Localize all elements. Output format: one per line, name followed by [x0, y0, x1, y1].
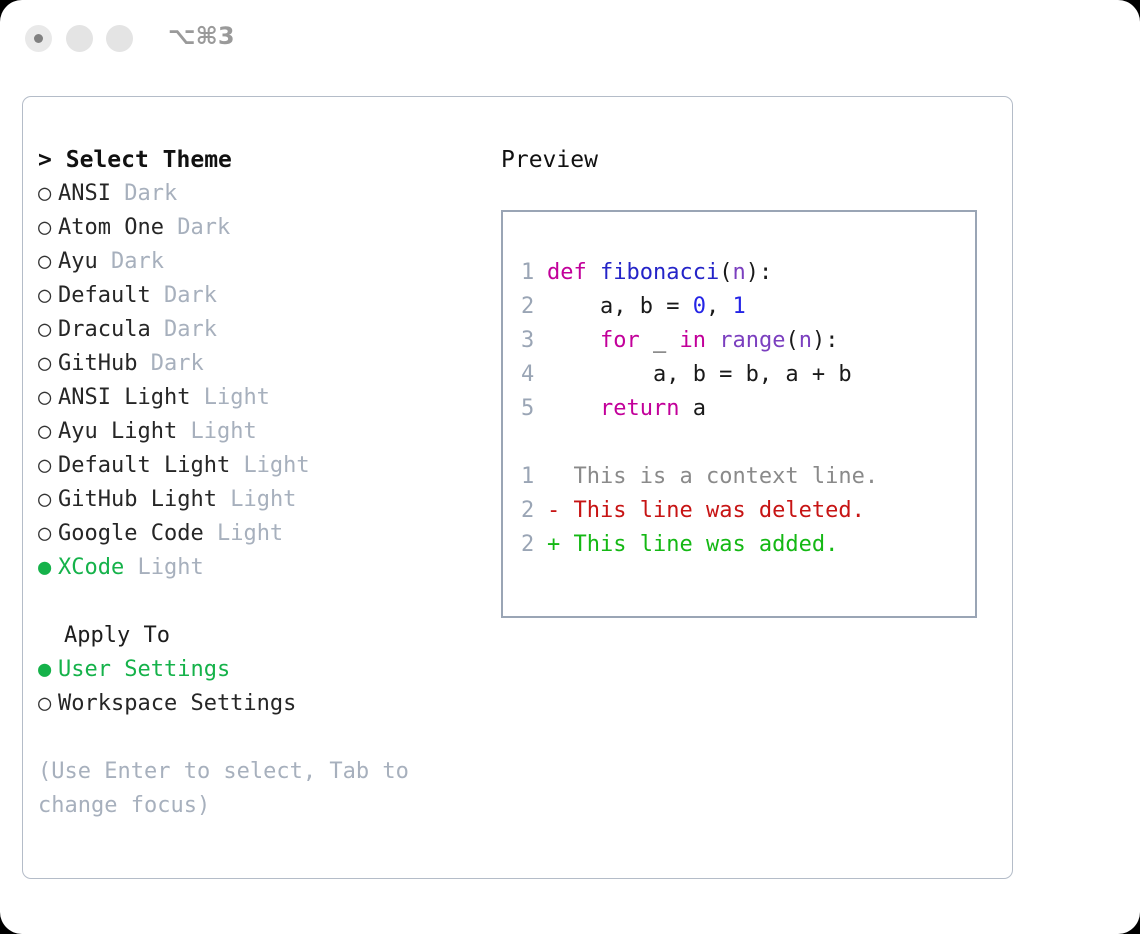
- apply-to-option-label: User Settings: [58, 657, 230, 682]
- code-token: 0: [693, 294, 706, 319]
- radio-unselected-icon: ○: [38, 687, 58, 721]
- code-sample: 1def fibonacci(n):2 a, b = 0, 13 for _ i…: [521, 256, 969, 426]
- theme-variant-label: Light: [137, 555, 203, 580]
- line-number: 2: [521, 290, 547, 324]
- preview-heading: Preview: [501, 143, 1001, 177]
- theme-variant-label: Light: [230, 487, 296, 512]
- titlebar-dot-2[interactable]: [66, 25, 93, 52]
- radio-selected-icon: ●: [38, 551, 58, 585]
- code-token: [547, 328, 600, 353]
- apply-to-option-row[interactable]: ○Workspace Settings: [38, 687, 478, 721]
- list-spacer: [38, 585, 478, 619]
- diff-line: 2- This line was deleted.: [521, 494, 969, 528]
- line-number: 2: [521, 494, 547, 528]
- radio-unselected-icon: ○: [38, 517, 58, 551]
- radio-unselected-icon: ○: [38, 483, 58, 517]
- theme-name-label: Ayu: [58, 249, 98, 274]
- spacer: [177, 419, 190, 444]
- code-token: in: [679, 328, 706, 353]
- radio-unselected-icon: ○: [38, 381, 58, 415]
- radio-unselected-icon: ○: [38, 279, 58, 313]
- theme-variant-label: Light: [217, 521, 283, 546]
- theme-variant-label: Dark: [124, 181, 177, 206]
- code-token: fibonacci: [600, 260, 719, 285]
- preview-column: Preview 1def fibonacci(n):2 a, b = 0, 13…: [501, 143, 1001, 618]
- select-theme-heading-label: Select Theme: [66, 147, 232, 173]
- theme-option-row[interactable]: ○GitHub Dark: [38, 347, 478, 381]
- theme-option-row[interactable]: ○Default Light Light: [38, 449, 478, 483]
- line-number: 3: [521, 324, 547, 358]
- prompt-caret-icon: >: [38, 147, 52, 173]
- preview-box: 1def fibonacci(n):2 a, b = 0, 13 for _ i…: [501, 210, 977, 618]
- code-token: ):: [812, 328, 839, 353]
- theme-name-label: XCode: [58, 555, 124, 580]
- code-line: 2 a, b = 0, 1: [521, 290, 969, 324]
- code-line: 5 return a: [521, 392, 969, 426]
- code-token: (: [785, 328, 798, 353]
- line-number: 4: [521, 358, 547, 392]
- theme-option-row[interactable]: ○ANSI Light Light: [38, 381, 478, 415]
- code-token: n: [799, 328, 812, 353]
- code-line: 1def fibonacci(n):: [521, 256, 969, 290]
- line-number: 2: [521, 528, 547, 562]
- apply-to-option-row[interactable]: ●User Settings: [38, 653, 478, 687]
- spacer: [204, 521, 217, 546]
- radio-unselected-icon: ○: [38, 245, 58, 279]
- spacer: [98, 249, 111, 274]
- code-token: a, b =: [547, 294, 693, 319]
- apply-to-heading: Apply To: [38, 619, 478, 653]
- diff-line: 1 This is a context line.: [521, 460, 969, 494]
- record-dot-inner-icon: [34, 34, 43, 43]
- theme-name-label: GitHub: [58, 351, 137, 376]
- theme-name-label: ANSI: [58, 181, 111, 206]
- code-token: ,: [706, 294, 733, 319]
- theme-name-label: Default Light: [58, 453, 230, 478]
- radio-unselected-icon: ○: [38, 211, 58, 245]
- theme-name-label: Dracula: [58, 317, 151, 342]
- theme-name-label: GitHub Light: [58, 487, 217, 512]
- code-token: def: [547, 260, 587, 285]
- theme-variant-label: Dark: [164, 283, 217, 308]
- theme-option-row[interactable]: ○Atom One Dark: [38, 211, 478, 245]
- theme-option-row[interactable]: ○ANSI Dark: [38, 177, 478, 211]
- spacer: [124, 555, 137, 580]
- line-number: 5: [521, 392, 547, 426]
- theme-option-row[interactable]: ●XCode Light: [38, 551, 478, 585]
- code-line: 3 for _ in range(n):: [521, 324, 969, 358]
- spacer: [137, 351, 150, 376]
- diff-marker: -: [547, 498, 574, 523]
- diff-line: 2+ This line was added.: [521, 528, 969, 562]
- code-token: range: [719, 328, 785, 353]
- code-token: a: [679, 396, 706, 421]
- apply-to-option-label: Workspace Settings: [58, 691, 296, 716]
- theme-variant-label: Light: [243, 453, 309, 478]
- line-number: 1: [521, 460, 547, 494]
- theme-selector-column: > Select Theme ○ANSI Dark○Atom One Dark○…: [38, 143, 478, 823]
- radio-unselected-icon: ○: [38, 415, 58, 449]
- theme-variant-label: Light: [190, 419, 256, 444]
- code-token: [547, 396, 600, 421]
- spacer: [111, 181, 124, 206]
- spacer: [217, 487, 230, 512]
- code-token: [706, 328, 719, 353]
- code-preview-area: 1def fibonacci(n):2 a, b = 0, 13 for _ i…: [521, 256, 969, 562]
- theme-option-row[interactable]: ○Dracula Dark: [38, 313, 478, 347]
- main-panel: > Select Theme ○ANSI Dark○Atom One Dark○…: [22, 96, 1013, 879]
- code-token: ):: [746, 260, 773, 285]
- code-token: n: [732, 260, 745, 285]
- theme-name-label: ANSI Light: [58, 385, 190, 410]
- theme-variant-label: Dark: [177, 215, 230, 240]
- radio-unselected-icon: ○: [38, 177, 58, 211]
- code-line: 4 a, b = b, a + b: [521, 358, 969, 392]
- radio-unselected-icon: ○: [38, 313, 58, 347]
- record-dot-button[interactable]: [25, 25, 52, 52]
- code-token: 1: [732, 294, 745, 319]
- keyboard-hint-text: (Use Enter to select, Tab to change focu…: [38, 755, 438, 823]
- theme-variant-label: Dark: [151, 351, 204, 376]
- radio-selected-icon: ●: [38, 653, 58, 687]
- keyboard-shortcut-label: ⌥⌘3: [168, 22, 235, 50]
- theme-name-label: Default: [58, 283, 151, 308]
- theme-option-row[interactable]: ○GitHub Light Light: [38, 483, 478, 517]
- app-window: ⌥⌘3 > Select Theme ○ANSI Dark○Atom One D…: [0, 0, 1140, 934]
- radio-unselected-icon: ○: [38, 347, 58, 381]
- diff-text: This is a context line.: [574, 464, 879, 489]
- code-token: _: [640, 328, 680, 353]
- diff-text: This line was deleted.: [574, 498, 865, 523]
- title-bar: ⌥⌘3: [0, 0, 1140, 78]
- theme-name-label: Ayu Light: [58, 419, 177, 444]
- spacer: [190, 385, 203, 410]
- spacer: [151, 317, 164, 342]
- diff-sample: 1 This is a context line.2- This line wa…: [521, 460, 969, 562]
- theme-variant-label: Dark: [164, 317, 217, 342]
- apply-to-list: ●User Settings○Workspace Settings: [38, 653, 478, 721]
- theme-option-row[interactable]: ○Ayu Light Light: [38, 415, 478, 449]
- theme-variant-label: Light: [204, 385, 270, 410]
- theme-list: ○ANSI Dark○Atom One Dark○Ayu Dark○Defaul…: [38, 177, 478, 585]
- code-token: a, b = b, a + b: [547, 362, 852, 387]
- spacer: [230, 453, 243, 478]
- diff-text: This line was added.: [574, 532, 839, 557]
- select-theme-heading: > Select Theme: [38, 143, 478, 177]
- theme-option-row[interactable]: ○Google Code Light: [38, 517, 478, 551]
- diff-marker: +: [547, 532, 574, 557]
- theme-name-label: Atom One: [58, 215, 164, 240]
- theme-name-label: Google Code: [58, 521, 204, 546]
- diff-marker: [547, 464, 574, 489]
- spacer: [151, 283, 164, 308]
- code-token: for: [600, 328, 640, 353]
- line-number: 1: [521, 256, 547, 290]
- code-token: (: [719, 260, 732, 285]
- code-token: [587, 260, 600, 285]
- spacer: [164, 215, 177, 240]
- code-diff-separator: [521, 426, 969, 460]
- theme-option-row[interactable]: ○Ayu Dark: [38, 245, 478, 279]
- code-token: return: [600, 396, 679, 421]
- theme-option-row[interactable]: ○Default Dark: [38, 279, 478, 313]
- theme-variant-label: Dark: [111, 249, 164, 274]
- titlebar-dot-3[interactable]: [106, 25, 133, 52]
- radio-unselected-icon: ○: [38, 449, 58, 483]
